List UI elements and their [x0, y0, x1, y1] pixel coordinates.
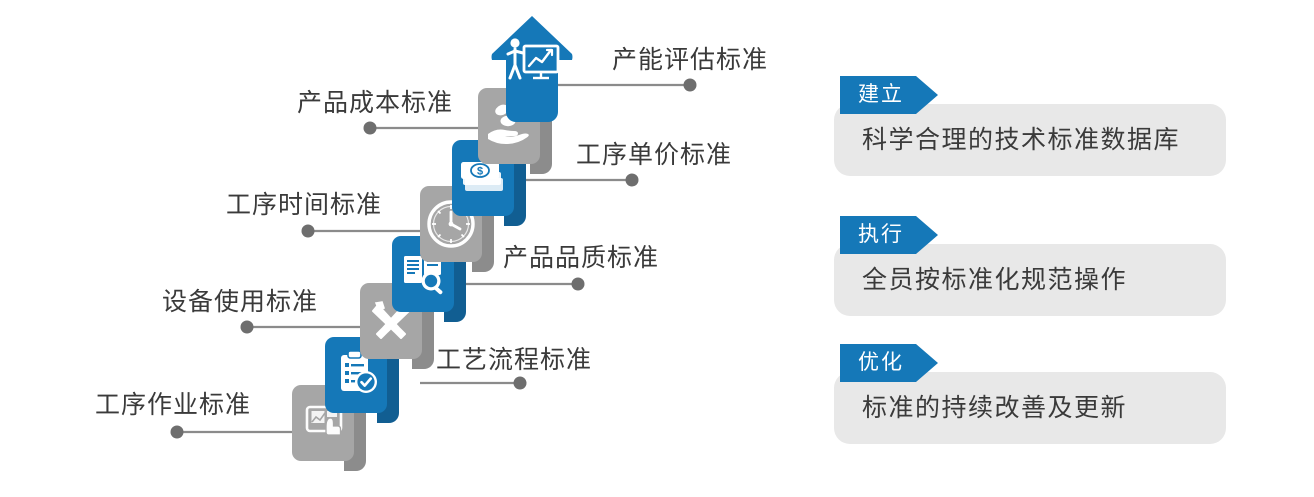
leader-text-step-8: 产能评估标准 [612, 45, 768, 75]
leader-dot-step-2 [514, 377, 527, 390]
card-establish-body: 科学合理的技术标准数据库 [862, 120, 1180, 160]
infographic-root: $ [0, 0, 1314, 497]
leader-dot-step-8 [684, 79, 697, 92]
phase-cards: 建立 科学合理的技术标准数据库 执行 全员按标准化规范操作 优化 标准的持续改善… [826, 0, 1314, 497]
leader-text-step-2: 工艺流程标准 [436, 345, 592, 375]
leader-dot-step-3 [241, 321, 254, 334]
leader-text-step-1: 工序作业标准 [95, 390, 251, 420]
leader-text-step-6: 工序单价标准 [576, 140, 732, 170]
leader-dot-step-4 [572, 278, 585, 291]
leader-dot-step-1 [171, 426, 184, 439]
svg-text:$: $ [477, 166, 483, 178]
banknotes-money-icon: $ [461, 162, 503, 191]
leader-text-step-4: 产品品质标准 [503, 243, 659, 273]
leader-text-step-7: 产品成本标准 [297, 88, 453, 118]
card-execute-body: 全员按标准化规范操作 [862, 260, 1127, 300]
leader-dot-step-7 [364, 122, 377, 135]
card-optimize-body: 标准的持续改善及更新 [862, 388, 1127, 428]
leader-text-step-3: 设备使用标准 [162, 287, 318, 317]
leader-text-step-5: 工序时间标准 [226, 190, 382, 220]
leader-dot-step-5 [302, 225, 315, 238]
leader-dot-step-6 [626, 174, 639, 187]
staircase-diagram: $ [0, 0, 810, 497]
